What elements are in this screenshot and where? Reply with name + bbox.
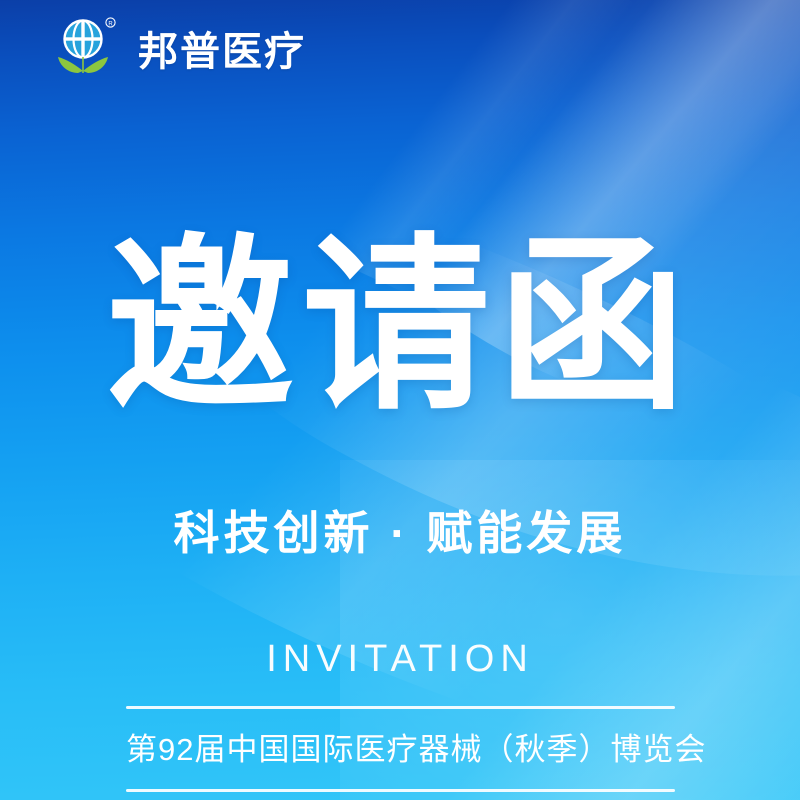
invitation-poster: R 邦普医疗 邀请函 科技创新 · 赋能发展 INVITATION 第92届中国… (0, 0, 800, 800)
footer-divider-top (126, 706, 675, 709)
page-subtitle: 科技创新 · 赋能发展 (0, 506, 800, 561)
company-name: 邦普医疗 (138, 32, 306, 72)
brand-header: R 邦普医疗 (0, 0, 800, 104)
page-title: 邀请函 (0, 232, 800, 420)
footer-divider-bottom (126, 789, 675, 792)
footer: 第92届中国国际医疗器械（秋季）博览会 (126, 706, 675, 792)
event-name: 第92届中国国际医疗器械（秋季）博览会 (126, 733, 675, 767)
page-title-english: INVITATION (0, 640, 800, 678)
svg-text:R: R (108, 21, 113, 27)
bpump-globe-leaf-logo-icon: R (46, 15, 120, 89)
